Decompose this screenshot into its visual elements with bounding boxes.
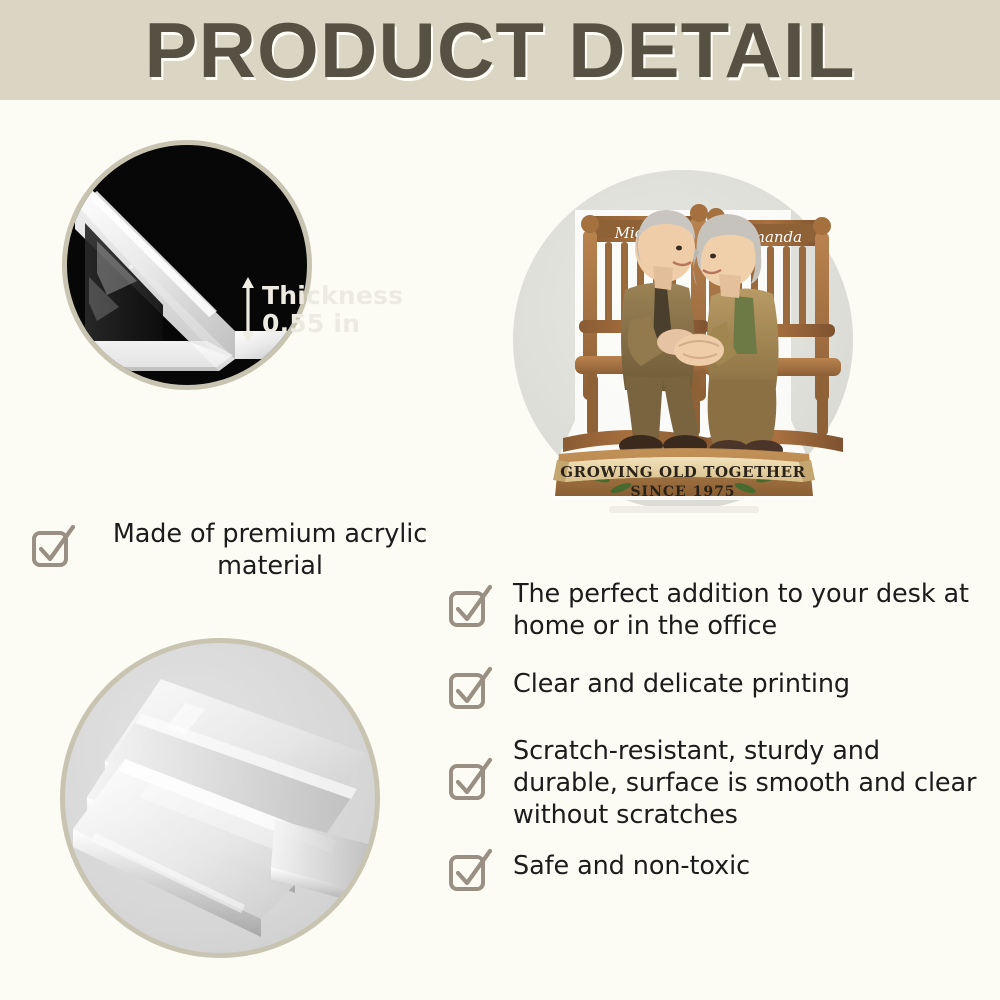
- acrylic-sheets-illustration: [65, 643, 375, 953]
- thickness-callout: Thickness 0.55 in: [262, 282, 412, 338]
- feature-scratch-resistant: Scratch-resistant, sturdy and durable, s…: [447, 735, 992, 831]
- page-title: PRODUCT DETAIL: [0, 0, 1000, 100]
- thickness-value: 0.55 in: [262, 310, 412, 338]
- acrylic-sheets-photo: [60, 638, 380, 958]
- acrylic-edge-illustration: [67, 145, 307, 385]
- double-arrow-vertical-icon: [238, 276, 258, 349]
- checkbox-checked-icon: [447, 848, 493, 894]
- product-detail-page: PRODUCT DETAIL: [0, 0, 1000, 1000]
- feature-label: Clear and delicate printing: [513, 668, 850, 700]
- feature-premium-acrylic: Made of premium acrylic material: [30, 518, 450, 582]
- acrylic-figurine-photo: Michael: [513, 170, 853, 510]
- thickness-label: Thickness: [262, 282, 412, 310]
- feature-clear-printing: Clear and delicate printing: [447, 668, 992, 712]
- feature-label: Safe and non-toxic: [513, 850, 750, 882]
- feature-desk-addition: The perfect addition to your desk at hom…: [447, 578, 992, 642]
- figurine-banner-subtitle: SINCE 1975: [630, 484, 735, 500]
- feature-label: Scratch-resistant, sturdy and durable, s…: [513, 735, 992, 831]
- feature-label: Made of premium acrylic material: [94, 518, 446, 582]
- checkbox-checked-icon: [447, 757, 493, 803]
- checkbox-checked-icon: [30, 524, 76, 570]
- feature-label: The perfect addition to your desk at hom…: [513, 578, 992, 642]
- figurine-banner-title: GROWING OLD TOGETHER: [560, 463, 806, 481]
- figurine-illustration: Michael: [513, 170, 853, 530]
- checkbox-checked-icon: [447, 584, 493, 630]
- acrylic-edge-photo: [62, 140, 312, 390]
- checkbox-checked-icon: [447, 666, 493, 712]
- feature-safe-non-toxic: Safe and non-toxic: [447, 850, 992, 894]
